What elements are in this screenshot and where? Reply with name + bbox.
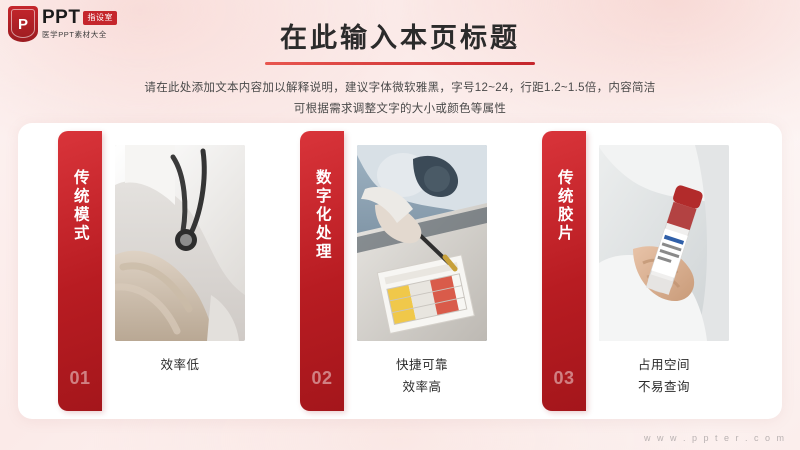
card-number: 03 [542, 368, 586, 389]
card-caption-line-2: 效率高 [396, 377, 448, 399]
subtitle-block: 请在此处添加文本内容加以解释说明，建议字体微软雅黑，字号12~24，行距1.2~… [0, 78, 800, 121]
brand-logo: P PPT 指设室 医学PPT素材大全 [8, 6, 117, 42]
card-item[interactable]: 数字化处理 02 [300, 131, 500, 411]
card-number: 01 [58, 368, 102, 389]
card-tab: 传统模式 01 [58, 131, 102, 411]
subtitle-line-2: 可根据需求调整文字的大小或颜色等属性 [0, 99, 800, 120]
card-caption: 效率低 [160, 355, 199, 377]
shield-icon: P [8, 6, 38, 42]
logo-badge: 指设室 [83, 11, 117, 25]
lab-technician-form-photo [357, 145, 487, 341]
card-tab: 传统胶片 03 [542, 131, 586, 411]
logo-text-group: PPT 指设室 医学PPT素材大全 [42, 8, 117, 40]
card-caption-line-1: 效率低 [160, 355, 199, 377]
footer-watermark: w w w . p p t e r . c o m [644, 433, 786, 443]
card-tab-label: 数字化处理 [312, 169, 331, 262]
card-tab: 数字化处理 02 [300, 131, 344, 411]
card-body: 占用空间 不易查询 [586, 131, 742, 411]
card-item[interactable]: 传统胶片 03 [542, 131, 742, 411]
card-item[interactable]: 传统模式 01 [58, 131, 258, 411]
logo-main-row: PPT 指设室 [42, 8, 117, 27]
card-tab-label: 传统模式 [70, 169, 89, 243]
card-caption-line-2: 不易查询 [638, 377, 690, 399]
covid-test-tube-photo [599, 145, 729, 341]
card-number: 02 [300, 368, 344, 389]
slide-header: 在此输入本页标题 请在此处添加文本内容加以解释说明，建议字体微软雅黑，字号12~… [0, 16, 800, 121]
shield-letter: P [18, 17, 28, 32]
logo-tagline: 医学PPT素材大全 [42, 29, 117, 40]
card-body: 效率低 [102, 131, 258, 411]
card-caption: 快捷可靠 效率高 [396, 355, 448, 399]
subtitle-line-1: 请在此处添加文本内容加以解释说明，建议字体微软雅黑，字号12~24，行距1.2~… [0, 78, 800, 99]
logo-brand-text: PPT [42, 8, 80, 27]
card-caption-line-1: 快捷可靠 [396, 355, 448, 377]
card-caption-line-1: 占用空间 [638, 355, 690, 377]
card-body: 快捷可靠 效率高 [344, 131, 500, 411]
page-title: 在此输入本页标题 [0, 16, 800, 55]
doctor-stethoscope-photo [115, 145, 245, 341]
card-row: 传统模式 01 [0, 131, 800, 411]
title-underline [265, 62, 535, 65]
card-caption: 占用空间 不易查询 [638, 355, 690, 399]
card-tab-label: 传统胶片 [554, 169, 573, 243]
